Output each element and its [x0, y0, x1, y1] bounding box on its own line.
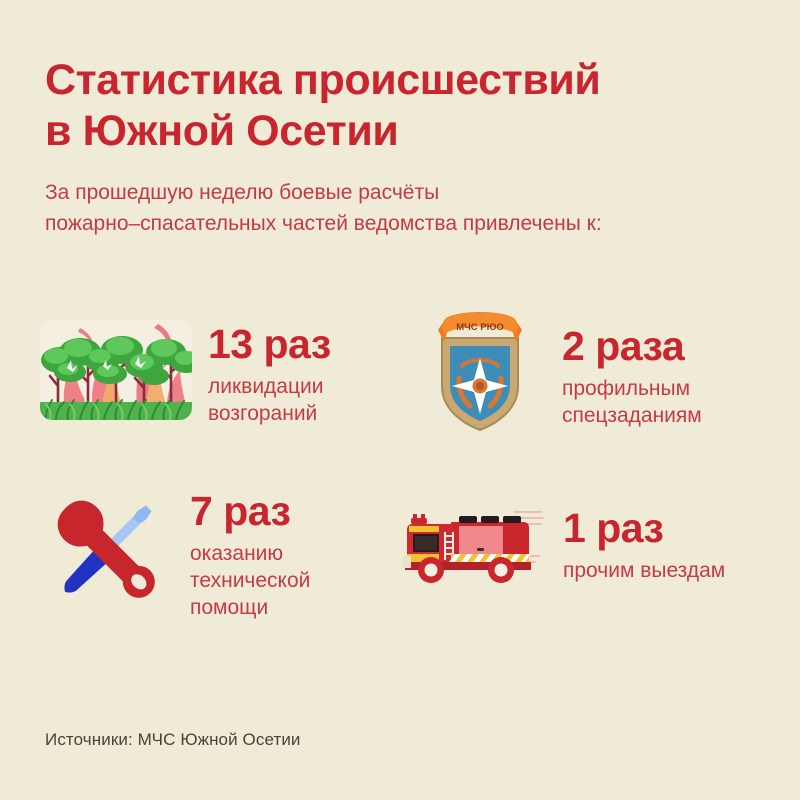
stat-label: ликвидации возгораний [208, 374, 331, 428]
emblem-banner-text: МЧС РЮО [456, 322, 504, 333]
header: Статистика происшествий в Южной Осетии З… [45, 55, 765, 239]
stat-label: оказанию технической помощи [190, 541, 310, 622]
wrench-screwdriver-icon [42, 485, 172, 620]
stat-item-special-tasks: МЧС РЮО 2 раза профильным спецзаданиям [420, 308, 702, 441]
stat-item-technical-help: 7 раз оказанию технической помощи [42, 485, 310, 622]
stat-label: профильным спецзаданиям [562, 376, 702, 430]
mchs-ryuo-emblem-icon: МЧС РЮО [420, 308, 540, 441]
page-title: Статистика происшествий в Южной Осетии [45, 55, 765, 156]
stat-value: 7 раз [190, 491, 310, 532]
sources-footer: Источники: МЧС Южной Осетии [45, 730, 301, 750]
stat-value: 2 раза [562, 326, 702, 367]
page-subtitle: За прошедшую неделю боевые расчёты пожар… [45, 178, 765, 239]
stat-text-technical-help: 7 раз оказанию технической помощи [190, 485, 310, 622]
stat-text-special-tasks: 2 раза профильным спецзаданиям [562, 308, 702, 430]
stat-value: 1 раз [563, 508, 725, 549]
stat-text-fires: 13 раз ликвидации возгораний [208, 320, 331, 428]
fire-truck-icon [395, 496, 545, 593]
stat-value: 13 раз [208, 324, 331, 365]
stat-text-other-calls: 1 раз прочим выездам [563, 496, 725, 585]
stat-item-other-calls: 1 раз прочим выездам [395, 496, 725, 593]
stats-grid: 13 раз ликвидации возгораний [0, 300, 800, 660]
infographic-page: Статистика происшествий в Южной Осетии З… [0, 0, 800, 800]
forest-fire-image [40, 320, 192, 425]
stat-item-fires: 13 раз ликвидации возгораний [40, 320, 331, 428]
stat-label: прочим выездам [563, 558, 725, 585]
